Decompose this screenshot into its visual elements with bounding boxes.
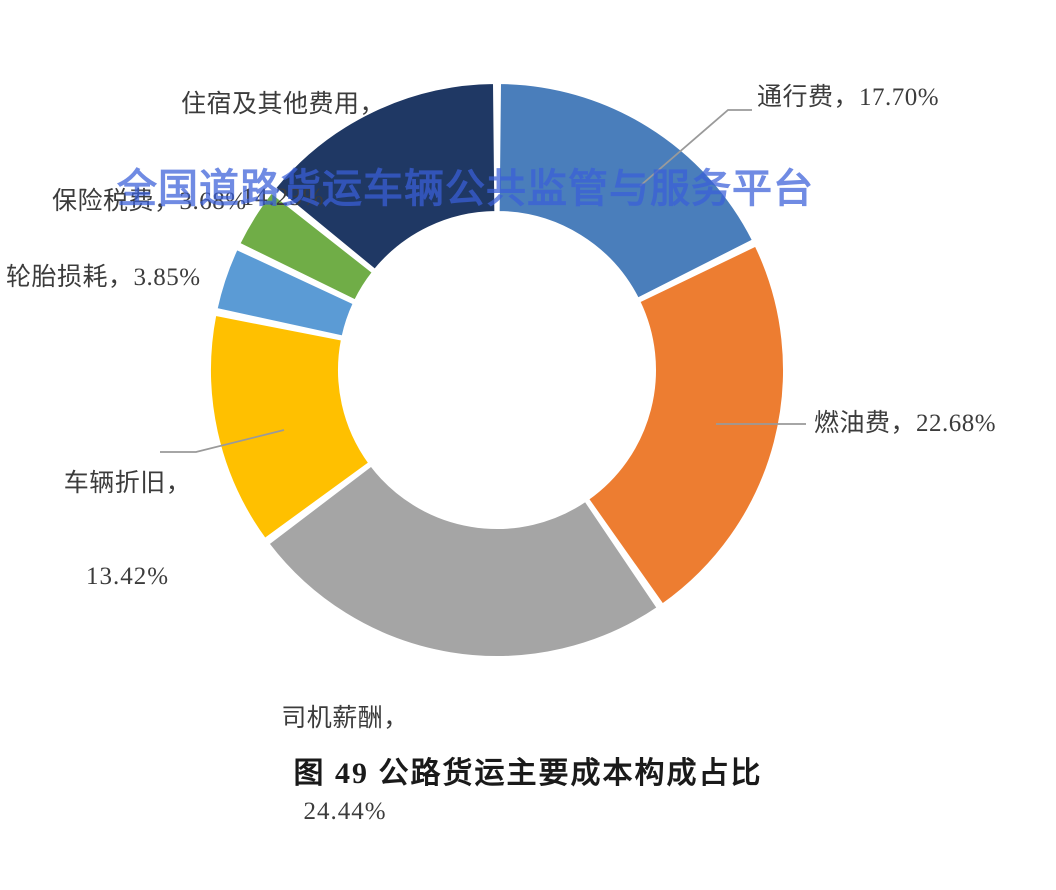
figure-caption: 图 49 公路货运主要成本构成占比	[0, 748, 1056, 792]
chart-page: 通行费，17.70%燃油费，22.68%司机薪酬，24.44%车辆折旧，13.4…	[0, 0, 1056, 806]
slice-label-fuel: 燃油费，22.68%	[814, 408, 996, 439]
slice-label-insurance: 保险税费，3.68%	[52, 186, 247, 217]
slice-label-depreciation-line2: 13.42%	[40, 561, 215, 592]
slice-label-tire: 轮胎损耗，3.85%	[6, 262, 201, 293]
slice-label-lodging: 住宿及其他费用， 14.23%	[158, 26, 408, 276]
slice-label-lodging-line1: 住宿及其他费用，	[158, 89, 408, 120]
slice-label-depreciation-line1: 车辆折旧，	[40, 468, 215, 499]
slice-label-driver-line1: 司机薪酬，	[255, 703, 435, 734]
slice-label-driver-line2: 24.44%	[255, 796, 435, 827]
slice-label-depreciation: 车辆折旧， 13.42%	[40, 405, 215, 655]
slice-label-toll: 通行费，17.70%	[757, 82, 939, 113]
